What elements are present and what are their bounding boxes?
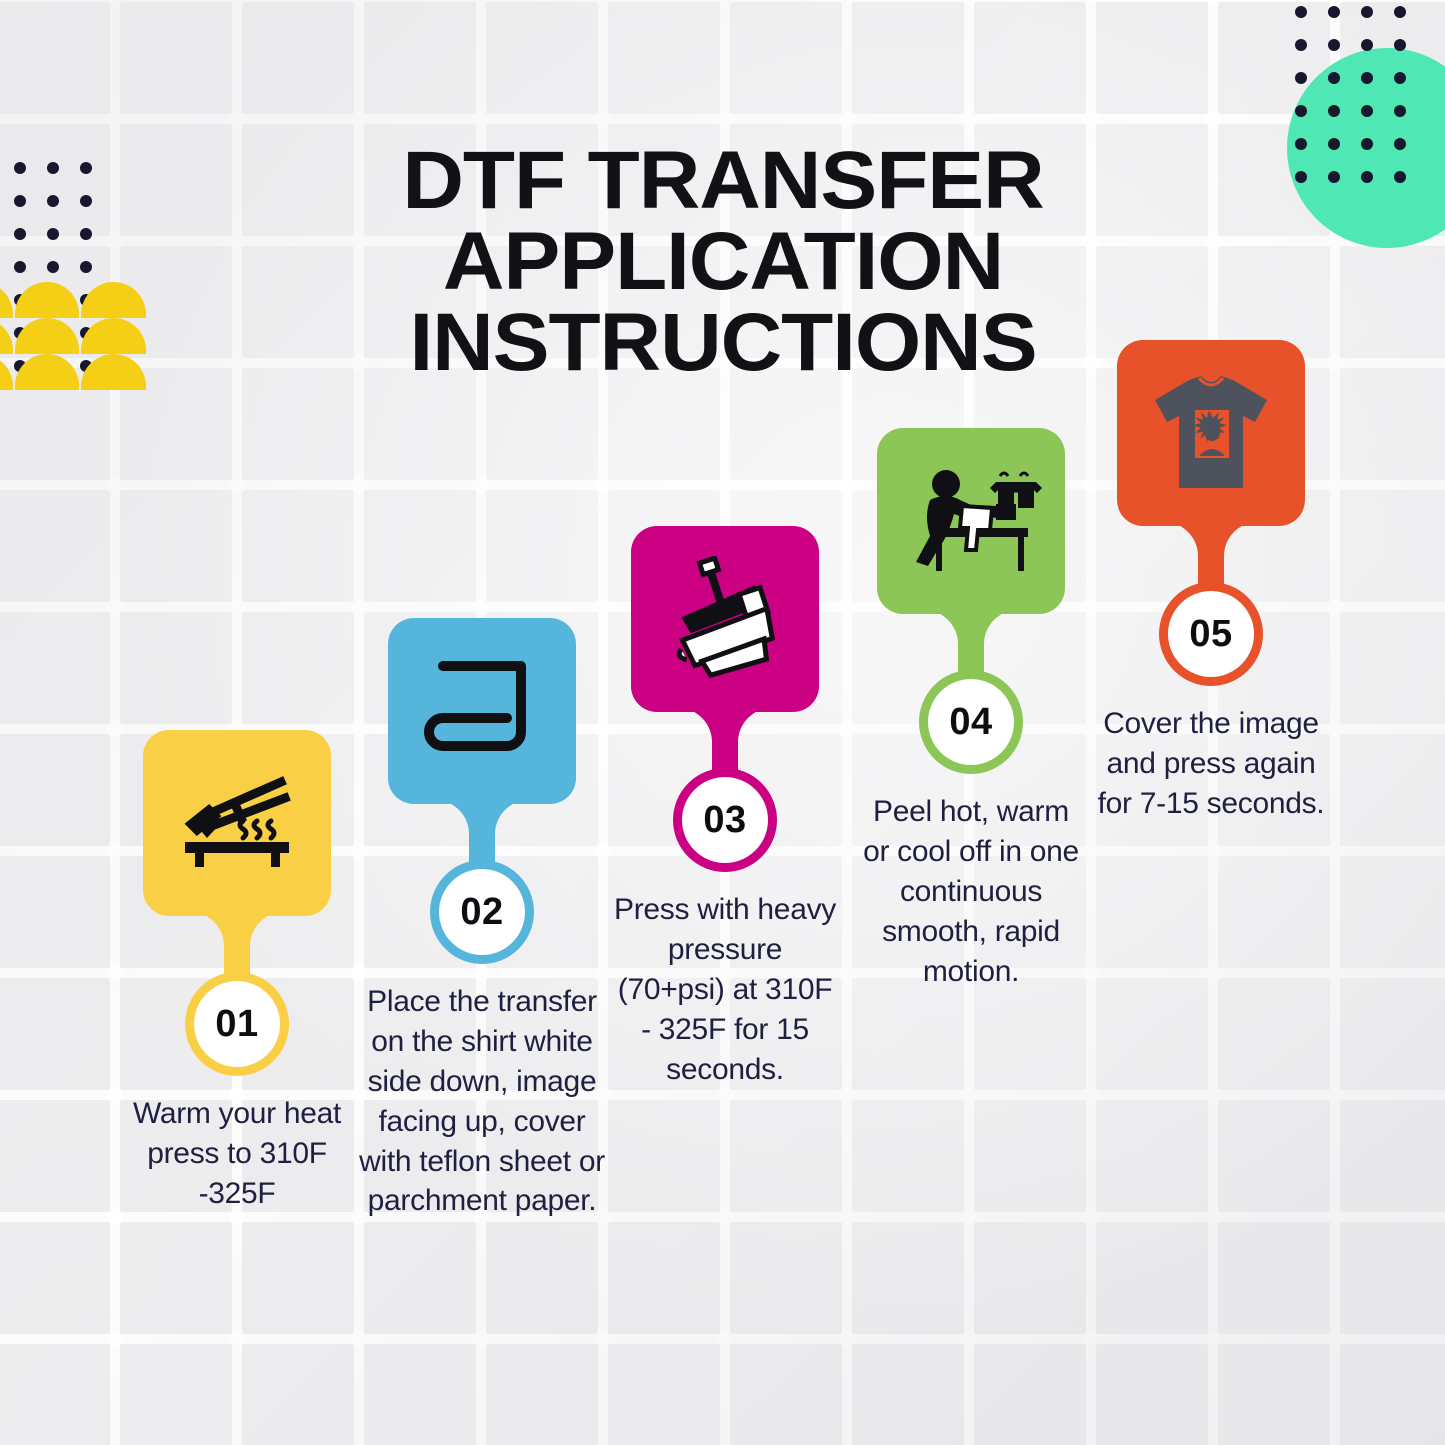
step-description-04: Peel hot, warm or cool off in one contin… [857, 792, 1085, 991]
printed-tshirt-icon [1143, 370, 1279, 496]
step-card-03[interactable] [631, 526, 819, 712]
step-number-badge-04[interactable]: 04 [919, 670, 1023, 774]
steps-container: 01 Warm your heat press to 310F -325F 02… [0, 0, 1445, 1445]
step-item-05[interactable]: 05 Cover the image and press again for 7… [1085, 340, 1337, 824]
step-number-02: 02 [460, 891, 503, 934]
step-description-03: Press with heavy pressure (70+psi) at 31… [611, 890, 839, 1089]
step-number-01: 01 [215, 1003, 258, 1046]
step-description-05: Cover the image and press again for 7-15… [1097, 704, 1325, 824]
step-item-04[interactable]: 04 Peel hot, warm or cool off in one con… [845, 428, 1097, 991]
connector-05: 05 [1085, 522, 1337, 694]
step-number-03: 03 [703, 799, 746, 842]
step-card-01[interactable] [143, 730, 331, 916]
peel-transfer-person-icon [900, 458, 1042, 584]
transfer-sheet-icon [423, 652, 541, 770]
heat-press-open-icon [177, 768, 297, 878]
step-card-04[interactable] [877, 428, 1065, 614]
step-item-01[interactable]: 01 Warm your heat press to 310F -325F [111, 730, 363, 1214]
connector-04: 04 [845, 610, 1097, 782]
step-description-01: Warm your heat press to 310F -325F [111, 1094, 363, 1214]
connector-03: 03 [599, 708, 851, 880]
step-number-04: 04 [949, 701, 992, 744]
step-number-badge-02[interactable]: 02 [430, 860, 534, 964]
heat-press-pressing-icon [660, 556, 790, 682]
step-number-05: 05 [1189, 613, 1232, 656]
connector-02: 02 [356, 800, 608, 972]
connector-01: 01 [111, 912, 363, 1084]
step-description-02: Place the transfer on the shirt white si… [356, 982, 608, 1221]
step-item-03[interactable]: 03 Press with heavy pressure (70+psi) at… [599, 526, 851, 1089]
step-number-badge-05[interactable]: 05 [1159, 582, 1263, 686]
step-number-badge-01[interactable]: 01 [185, 972, 289, 1076]
step-item-02[interactable]: 02 Place the transfer on the shirt white… [356, 618, 608, 1221]
step-card-02[interactable] [388, 618, 576, 804]
step-card-05[interactable] [1117, 340, 1305, 526]
step-number-badge-03[interactable]: 03 [673, 768, 777, 872]
